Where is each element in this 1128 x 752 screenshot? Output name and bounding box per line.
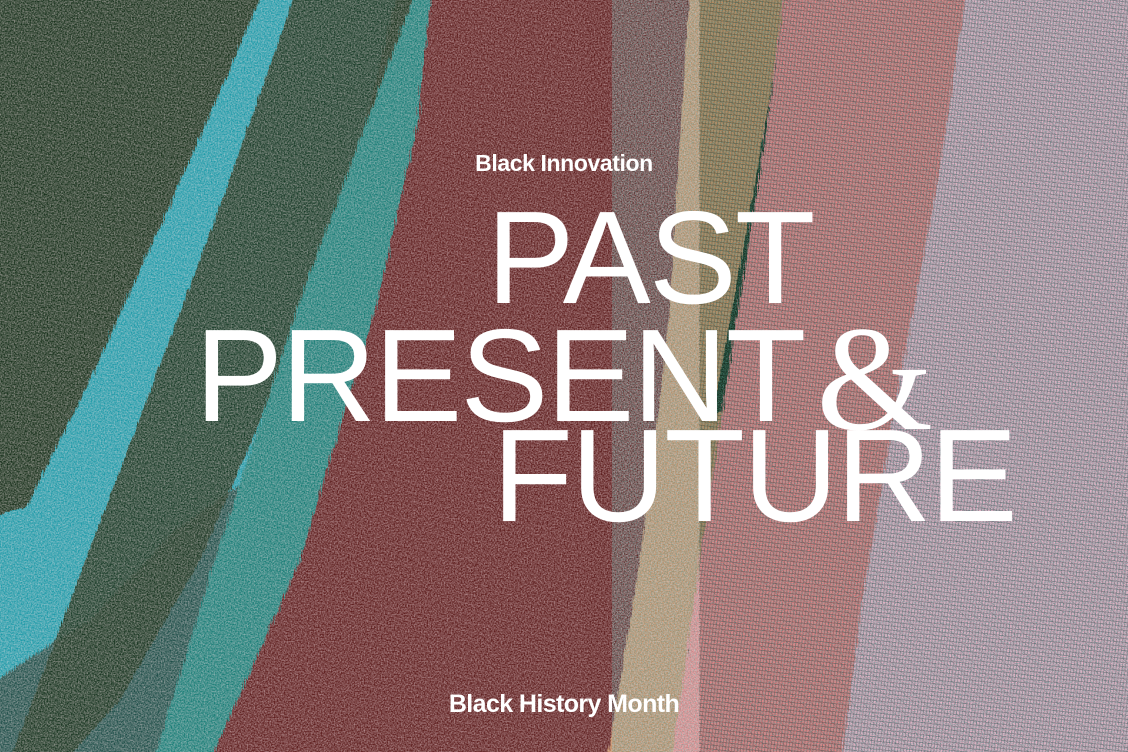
speckle-overlay-dark bbox=[0, 0, 700, 752]
background-artwork bbox=[0, 0, 1128, 752]
poster-canvas: Black Innovation PAST PRESENT& FUTURE Bl… bbox=[0, 0, 1128, 752]
